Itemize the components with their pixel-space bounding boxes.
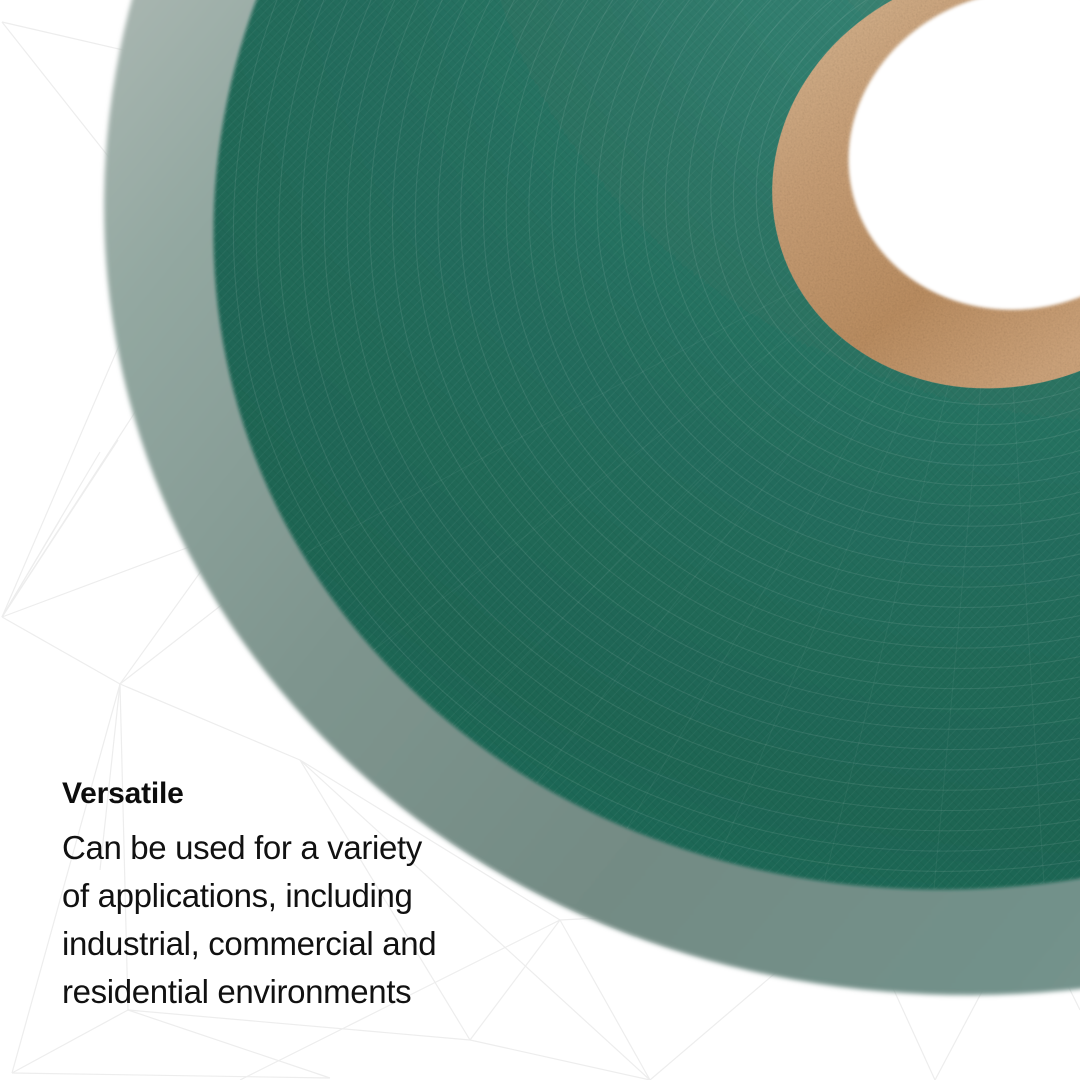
feature-copy-block: Versatile Can be used for a variety of a… xyxy=(62,778,532,1016)
feature-card: Versatile Can be used for a variety of a… xyxy=(0,0,1080,1080)
feature-description: Can be used for a variety of application… xyxy=(62,824,532,1016)
feature-heading: Versatile xyxy=(62,778,532,810)
